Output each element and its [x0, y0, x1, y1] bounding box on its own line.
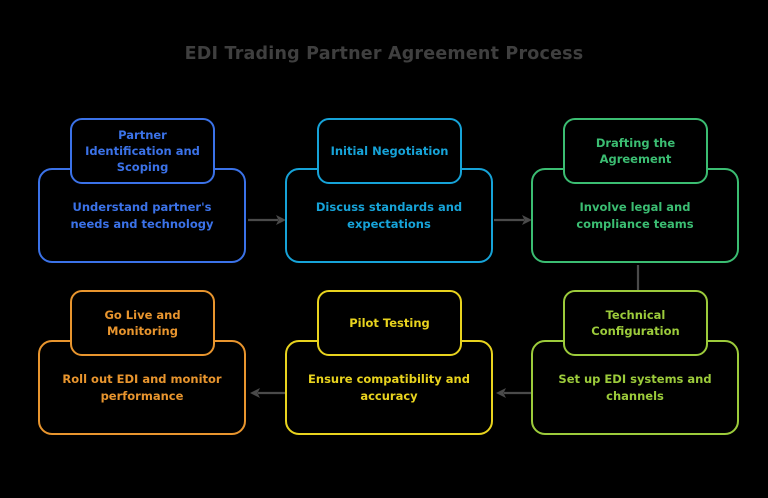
- step-header-drafting-the-agreement: Drafting the Agreement: [563, 118, 708, 184]
- step-title: Technical Configuration: [565, 307, 706, 340]
- step-header-partner-identification-and-scoping: Partner Identification and Scoping: [70, 118, 215, 184]
- step-header-pilot-testing: Pilot Testing: [317, 290, 462, 356]
- step-description: Ensure compatibility and accuracy: [287, 371, 491, 404]
- step-title: Initial Negotiation: [325, 143, 455, 159]
- connector-1-to-2-arrow-icon: [248, 212, 288, 228]
- step-header-initial-negotiation: Initial Negotiation: [317, 118, 462, 184]
- diagram-canvas: EDI Trading Partner Agreement Process Un…: [0, 0, 768, 498]
- step-title: Go Live and Monitoring: [72, 307, 213, 340]
- step-title: Partner Identification and Scoping: [72, 127, 213, 176]
- step-header-go-live-and-monitoring: Go Live and Monitoring: [70, 290, 215, 356]
- page-title: EDI Trading Partner Agreement Process: [0, 44, 768, 64]
- step-description: Understand partner's needs and technolog…: [40, 199, 244, 232]
- step-description: Involve legal and compliance teams: [533, 199, 737, 232]
- step-description: Discuss standards and expectations: [287, 199, 491, 232]
- connector-4-to-5-arrow-icon: [494, 385, 534, 401]
- step-title: Pilot Testing: [343, 315, 436, 331]
- step-description: Set up EDI systems and channels: [533, 371, 737, 404]
- step-title: Drafting the Agreement: [565, 135, 706, 168]
- connector-2-to-3-arrow-icon: [494, 212, 534, 228]
- step-description: Roll out EDI and monitor performance: [40, 371, 244, 404]
- step-header-technical-configuration: Technical Configuration: [563, 290, 708, 356]
- connector-5-to-6-arrow-icon: [248, 385, 288, 401]
